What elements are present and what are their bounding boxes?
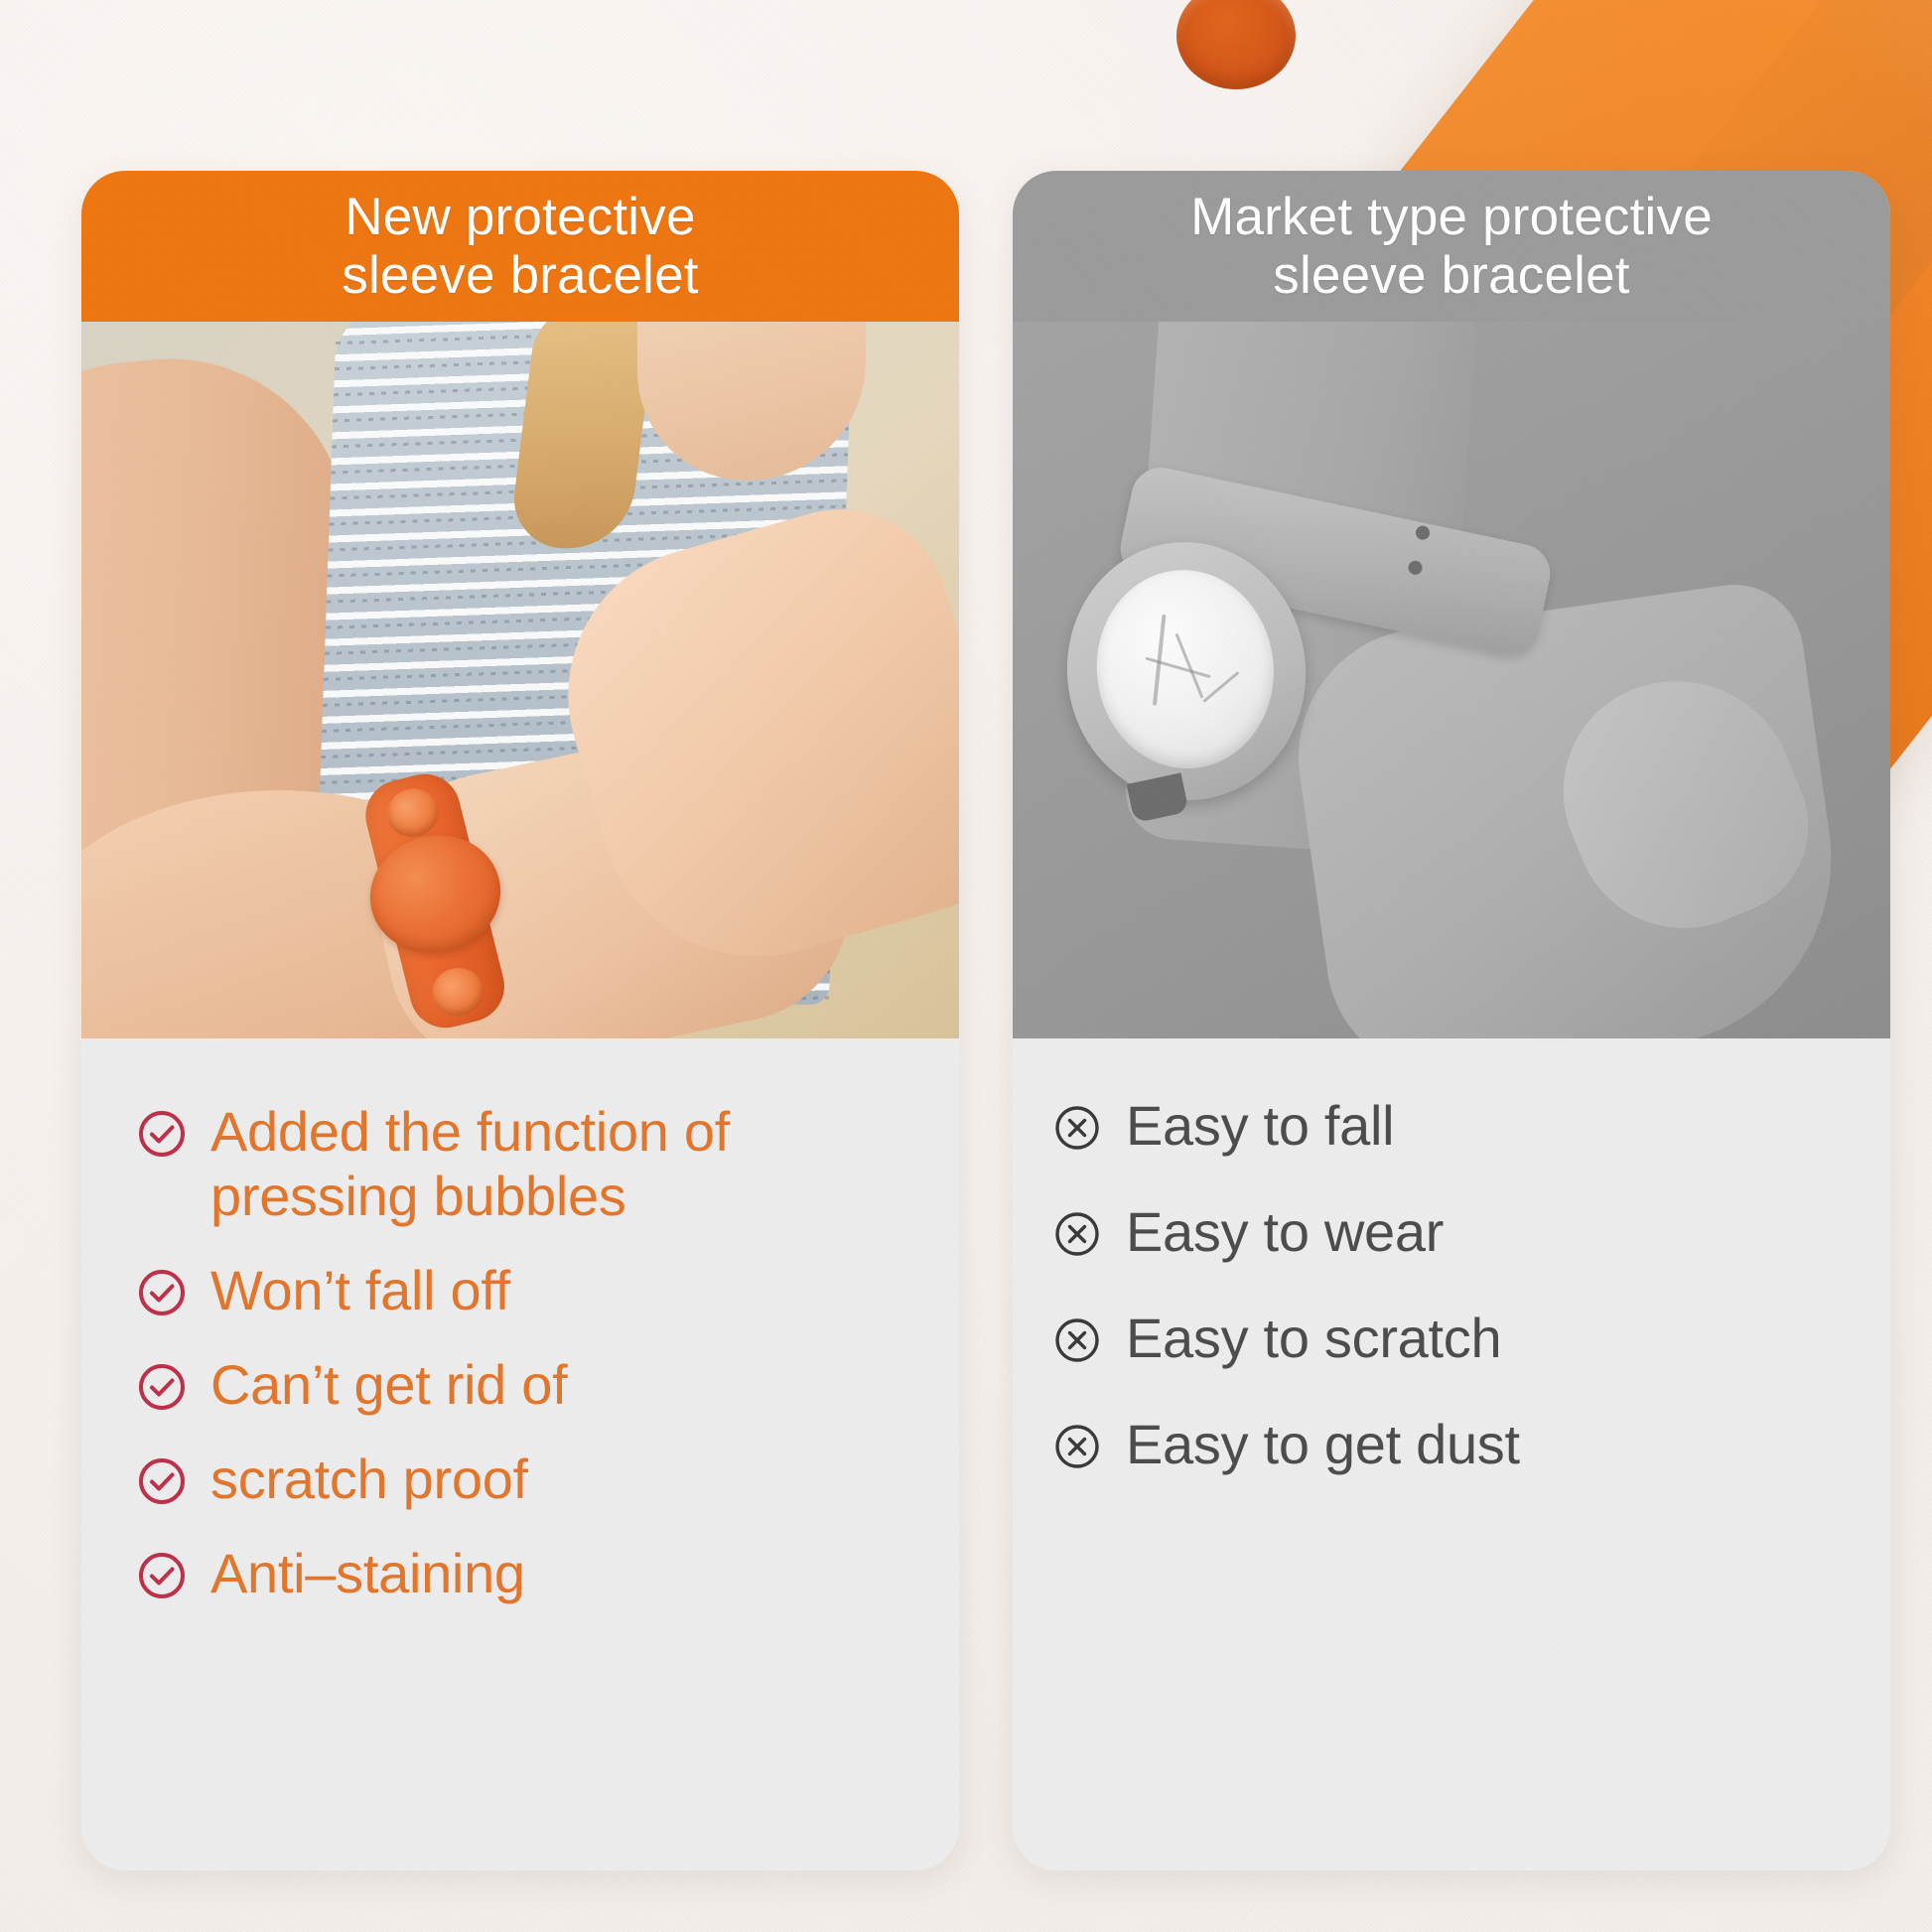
comparison-infographic: New protective sleeve bracelet — [0, 0, 1932, 1932]
list-item-label: Can’t get rid of — [210, 1353, 567, 1418]
check-circle-icon — [137, 1456, 187, 1506]
list-item: Anti–staining — [81, 1542, 959, 1606]
list-item-label: Added the function of pressing bubbles — [210, 1100, 913, 1229]
check-circle-icon — [137, 1551, 187, 1600]
list-item: Added the function of pressing bubbles — [81, 1100, 959, 1229]
list-item-label: scratch proof — [210, 1448, 528, 1512]
cross-circle-icon — [1052, 1209, 1102, 1259]
list-item-label: Easy to fall — [1126, 1094, 1394, 1159]
panels-container: New protective sleeve bracelet — [0, 0, 1932, 1932]
panel-title-line-1: New protective — [345, 188, 695, 246]
panel-header-market-product: Market type protective sleeve bracelet — [1013, 171, 1890, 322]
scratched-white-disc — [1087, 561, 1284, 777]
cross-circle-icon — [1052, 1422, 1102, 1471]
check-circle-icon — [137, 1268, 187, 1317]
panel-title-market-product: Market type protective sleeve bracelet — [1190, 188, 1713, 306]
check-circle-icon — [137, 1109, 187, 1159]
list-item: Easy to fall — [1013, 1094, 1890, 1159]
list-item-label: Easy to scratch — [1126, 1307, 1501, 1371]
feature-list-market-product: Easy to fall Easy to wear — [1013, 1038, 1890, 1870]
panel-title-line-1: Market type protective — [1190, 188, 1713, 246]
cross-circle-icon — [1052, 1103, 1102, 1153]
list-item: Easy to wear — [1013, 1200, 1890, 1265]
panel-title-line-2: sleeve bracelet — [1273, 246, 1629, 305]
list-item: Easy to get dust — [1013, 1413, 1890, 1477]
panel-header-new-product: New protective sleeve bracelet — [81, 171, 959, 322]
feature-list-new-product: Added the function of pressing bubbles W… — [81, 1038, 959, 1870]
list-item-label: Easy to get dust — [1126, 1413, 1520, 1477]
check-circle-icon — [137, 1362, 187, 1412]
panel-new-product: New protective sleeve bracelet — [81, 171, 959, 1870]
list-item: Can’t get rid of — [81, 1353, 959, 1418]
list-item-label: Anti–staining — [210, 1542, 525, 1606]
list-item: Easy to scratch — [1013, 1307, 1890, 1371]
list-item-label: Won’t fall off — [210, 1259, 510, 1323]
cross-circle-icon — [1052, 1315, 1102, 1365]
list-item: scratch proof — [81, 1448, 959, 1512]
list-item: Won’t fall off — [81, 1259, 959, 1323]
product-photo-new-bracelet — [81, 322, 959, 1038]
product-photo-market-bracelet — [1013, 322, 1890, 1038]
list-item-label: Easy to wear — [1126, 1200, 1444, 1265]
panel-market-product: Market type protective sleeve bracelet — [1013, 171, 1890, 1870]
panel-title-new-product: New protective sleeve bracelet — [342, 188, 698, 306]
panel-title-line-2: sleeve bracelet — [342, 246, 698, 305]
